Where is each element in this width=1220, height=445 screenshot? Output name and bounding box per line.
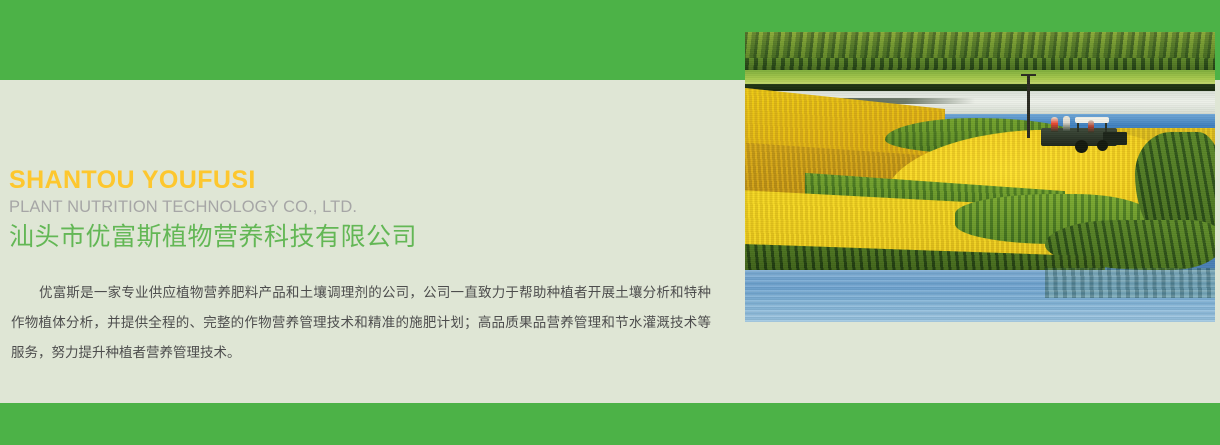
bottom-green-band — [0, 403, 1220, 445]
rice-field-photo-image — [745, 32, 1215, 322]
company-name-english: SHANTOU YOUFUSI — [9, 165, 709, 195]
brand-block: SHANTOU YOUFUSI PLANT NUTRITION TECHNOLO… — [9, 165, 709, 254]
photo-grain-overlay — [745, 32, 1215, 322]
left-content-column: SHANTOU YOUFUSI PLANT NUTRITION TECHNOLO… — [0, 80, 730, 403]
hero-photo — [745, 32, 1215, 322]
company-profile-page: SHANTOU YOUFUSI PLANT NUTRITION TECHNOLO… — [0, 0, 1220, 445]
company-tagline-english: PLANT NUTRITION TECHNOLOGY CO., LTD. — [9, 195, 709, 219]
company-name-chinese: 汕头市优富斯植物营养科技有限公司 — [9, 220, 709, 254]
company-intro-paragraph: 优富斯是一家专业供应植物营养肥料产品和土壤调理剂的公司，公司一直致力于帮助种植者… — [11, 278, 711, 368]
